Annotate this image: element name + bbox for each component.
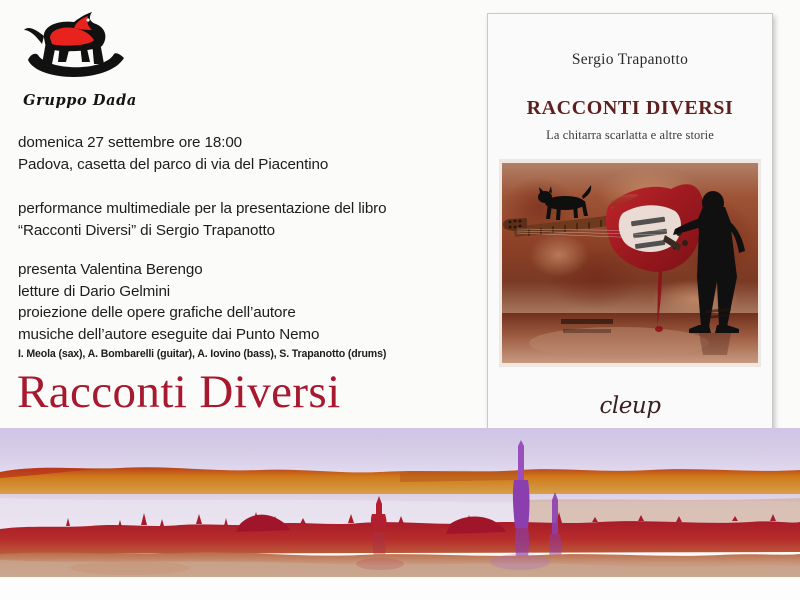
event-details: domenica 27 settembre ore 18:00 Padova, … xyxy=(18,132,470,362)
book-author: Sergio Trapanotto xyxy=(488,51,772,69)
gruppo-dada-label: Gruppo Dada xyxy=(20,92,140,109)
spacer xyxy=(18,175,470,198)
gruppo-dada-logo: Gruppo Dada xyxy=(16,8,146,118)
event-description-line-2: “Racconti Diversi” di Sergio Trapanotto xyxy=(18,220,470,242)
spacer xyxy=(18,241,470,259)
book-subtitle: La chitarra scarlatta e altre storie xyxy=(488,128,772,143)
credit-readings: letture di Dario Gelmini xyxy=(18,281,470,303)
event-venue: Padova, casetta del parco di via del Pia… xyxy=(18,154,470,176)
bottom-white-margin xyxy=(0,577,800,600)
rocking-horse-icon xyxy=(16,8,136,90)
book-cover: Sergio Trapanotto RACCONTI DIVERSI La ch… xyxy=(487,13,773,444)
event-when-where: domenica 27 settembre ore 18:00 Padova, … xyxy=(18,132,470,175)
credit-presenter: presenta Valentina Berengo xyxy=(18,259,470,281)
publisher-logo: cleup xyxy=(488,393,772,419)
credit-musicians: I. Meola (sax), A. Bombarelli (guitar), … xyxy=(18,347,470,362)
event-datetime: domenica 27 settembre ore 18:00 xyxy=(18,132,470,154)
event-poster: Gruppo Dada domenica 27 settembre ore 18… xyxy=(0,0,800,600)
watercolor-landscape-band xyxy=(0,428,800,577)
book-title: RACCONTI DIVERSI xyxy=(488,97,772,120)
credit-music: musiche dell’autore eseguite dai Punto N… xyxy=(18,324,470,346)
event-description-line-1: performance multimediale per la presenta… xyxy=(18,198,470,220)
book-cover-artwork xyxy=(499,159,761,367)
page-title: Racconti Diversi xyxy=(17,366,341,418)
event-credits: presenta Valentina Berengo letture di Da… xyxy=(18,259,470,362)
credit-projection: proiezione delle opere grafiche dell’aut… xyxy=(18,302,470,324)
event-description: performance multimediale per la presenta… xyxy=(18,198,470,241)
